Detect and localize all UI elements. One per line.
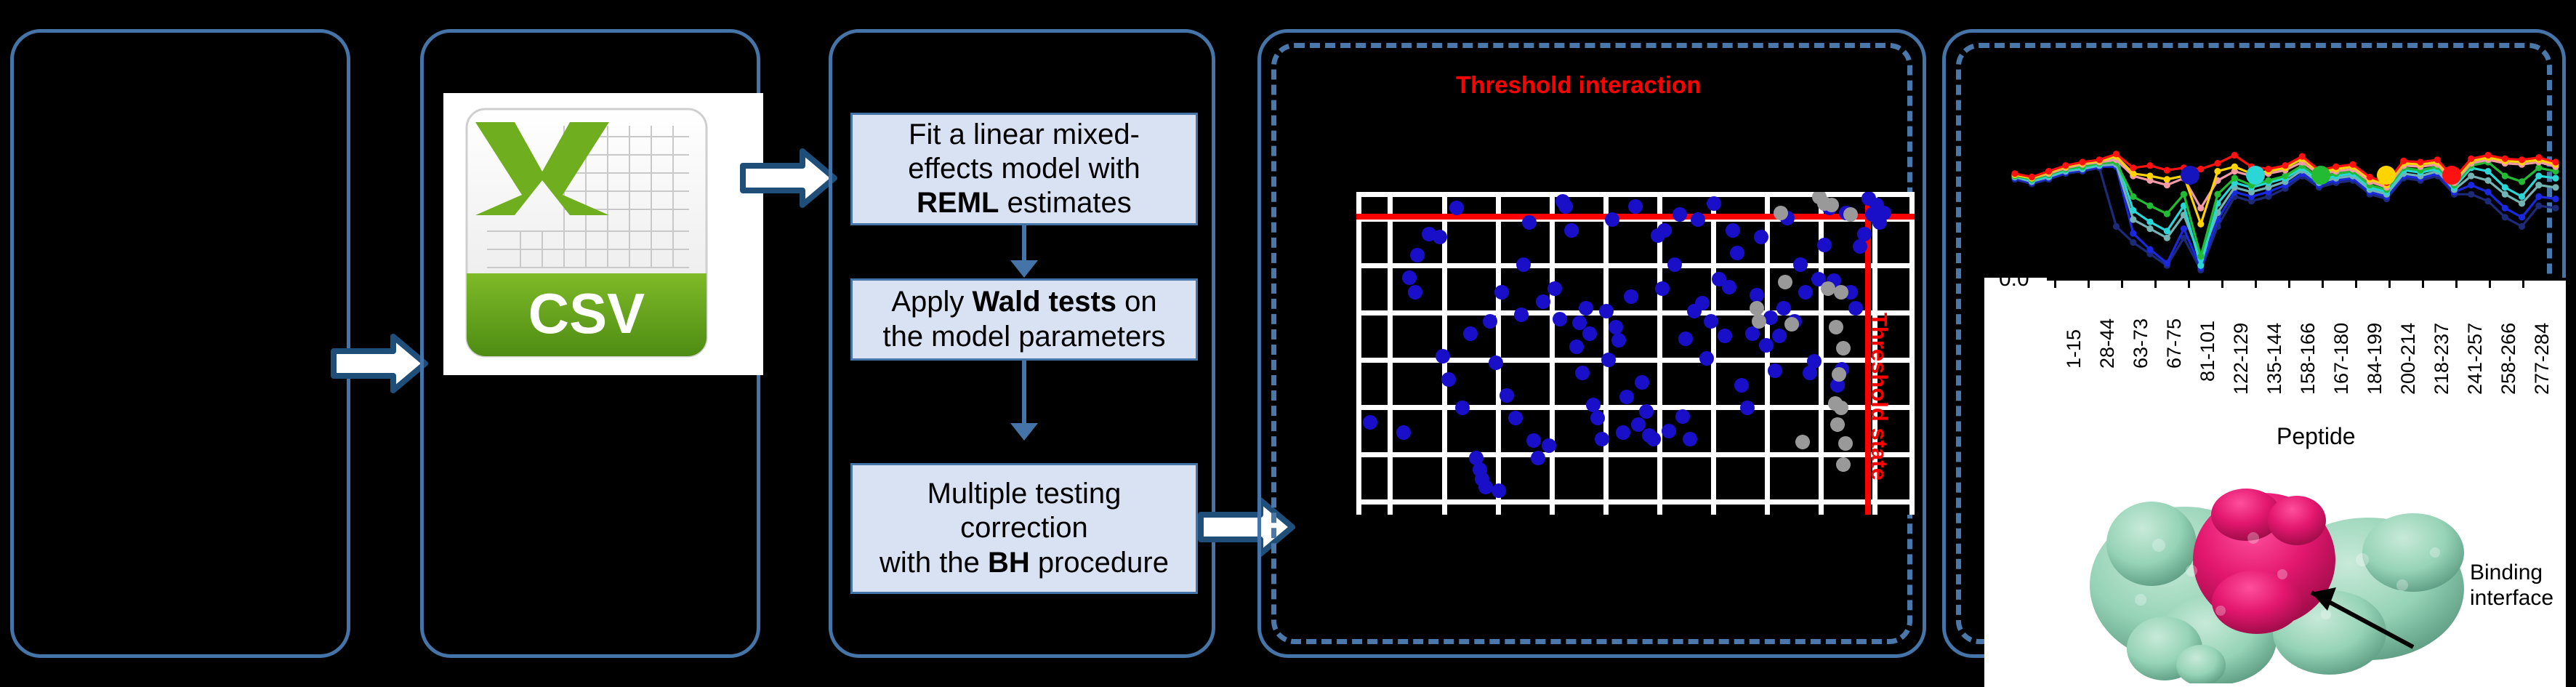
scatter-point: [1635, 375, 1649, 390]
peptide-series-marker: [2519, 223, 2525, 230]
scatter-point: [1363, 415, 1377, 430]
peptide-label-3: 67-75: [2163, 318, 2186, 369]
peptide-series-marker: [2502, 172, 2508, 179]
figure-canvas: CSV Fit a linear mixed- effects model wi…: [0, 0, 2576, 687]
peptide-series-marker: [2417, 158, 2423, 165]
scatter-point: [1707, 196, 1721, 211]
scatter-point: [1848, 301, 1863, 316]
scatter-point: [1449, 201, 1464, 215]
peptide-label-9: 184-199: [2364, 323, 2386, 395]
scatter-point: [1836, 457, 1851, 472]
peptide-series-marker: [2146, 202, 2153, 209]
scatter-point: [1821, 281, 1835, 296]
peptide-series-marker: [2552, 175, 2559, 182]
peptide-series-marker: [2045, 168, 2052, 174]
arrow-csv-to-analysis: [740, 145, 838, 211]
scatter-point: [1784, 317, 1799, 332]
peptide-series-marker: [2552, 196, 2559, 202]
peptide-label-10: 200-214: [2397, 323, 2420, 395]
peptide-series-marker: [2535, 154, 2542, 161]
scatter-point: [1599, 304, 1614, 318]
scatter-point: [1631, 417, 1646, 432]
scatter-point: [1478, 480, 1493, 494]
peptide-series-marker: [2197, 253, 2204, 260]
peptide-series-marker: [2502, 184, 2508, 190]
bh-line2: correction: [960, 512, 1088, 544]
scatter-point: [1582, 326, 1597, 341]
fit-model-step[interactable]: Fit a linear mixed- effects model with R…: [850, 113, 1198, 225]
peptide-series-marker: [2299, 153, 2306, 160]
peptide-series-marker: [2214, 160, 2221, 166]
scatter-point: [1699, 351, 1714, 366]
scatter-point: [1619, 390, 1634, 404]
peptide-series-marker: [2197, 221, 2204, 228]
scatter-point: [1798, 285, 1813, 300]
scatter-point: [1657, 223, 1672, 238]
scatter-point: [1616, 425, 1630, 440]
peptide-label-0: 1-15: [2063, 329, 2085, 369]
peptide-series-marker: [2468, 182, 2474, 188]
peptide-series-marker: [2502, 214, 2508, 220]
peptide-series-marker: [2079, 158, 2085, 165]
scatter-point: [1726, 223, 1740, 238]
scatter-point: [1410, 248, 1425, 262]
peptide-label-13: 258-266: [2497, 323, 2520, 395]
scatter-point: [1564, 223, 1579, 238]
peptide-label-5: 122-129: [2230, 323, 2253, 395]
peptide-series-marker: [2146, 225, 2153, 232]
scatter-plot: [1356, 192, 1915, 515]
scatter-point: [1829, 320, 1843, 334]
peptide-series-marker: [2146, 246, 2153, 253]
scatter-point: [1793, 257, 1808, 272]
peptide-series-marker: [2130, 230, 2136, 236]
peptide-series-marker: [2164, 228, 2170, 234]
peptide-series-marker: [2535, 164, 2542, 171]
connector-1: [1022, 225, 1026, 263]
wald-line1-pre: Apply: [891, 286, 972, 318]
peptide-series-marker: [2130, 170, 2136, 177]
peptide-series-marker: [2130, 239, 2136, 246]
scatter-point: [1754, 230, 1768, 244]
peptide-series-marker: [2181, 191, 2187, 198]
peptide-label-2: 63-73: [2130, 318, 2152, 369]
scatter-point: [1483, 314, 1497, 329]
threshold-state-label: Threshold state: [1866, 313, 1892, 481]
peptide-series-marker: [2130, 193, 2136, 200]
peptide-series-marker: [2519, 193, 2525, 200]
fit-model-line2: effects model with: [908, 153, 1140, 185]
peptide-series-marker: [2468, 191, 2474, 198]
scatter-point: [1776, 301, 1791, 316]
scatter-point: [1832, 367, 1846, 382]
scatter-point: [1441, 372, 1456, 387]
peptide-series-marker: [2164, 182, 2170, 188]
peptide-series-marker: [2519, 214, 2525, 220]
scatter-point: [1772, 329, 1787, 343]
scatter-point: [1463, 326, 1478, 341]
csv-file-icon: CSV: [443, 93, 763, 375]
bh-bold: BH: [988, 547, 1030, 579]
peptide-series-marker: [2265, 166, 2271, 172]
x-axis-line: [2047, 278, 2566, 281]
peptide-series-marker: [2164, 211, 2170, 217]
scatter-point: [1836, 341, 1851, 355]
wald-line2: the model parameters: [882, 321, 1165, 353]
scatter-point: [1526, 433, 1541, 448]
peptide-series-marker: [2214, 168, 2221, 174]
scatter-point: [1611, 333, 1626, 347]
peptide-series-marker: [2519, 200, 2525, 206]
peptide-series-marker: [2484, 168, 2491, 174]
peptide-series-marker: [2146, 162, 2153, 169]
peptide-label-1: 28-44: [2096, 318, 2119, 369]
peptide-axis-title: Peptide: [2277, 423, 2356, 450]
scatter-point: [1734, 378, 1749, 393]
peptide-chart: [2005, 149, 2566, 280]
scatter-point: [1857, 227, 1872, 241]
scatter-point: [1750, 301, 1764, 316]
wald-test-step[interactable]: Apply Wald tests on the model parameters: [850, 278, 1198, 361]
scatter-point: [1752, 314, 1766, 329]
peptide-series-marker: [2282, 172, 2288, 179]
scatter-point: [1553, 312, 1567, 326]
scatter-point: [1569, 340, 1584, 354]
scatter-point: [1667, 257, 1682, 272]
bh-line1: Multiple testing: [927, 478, 1122, 510]
fit-model-bold: REML: [917, 187, 999, 219]
peptide-series-marker: [2282, 162, 2288, 169]
scatter-point: [1489, 355, 1503, 370]
scatter-point: [1590, 411, 1605, 425]
peptide-series-marker: [2146, 172, 2153, 179]
peptide-series-marker: [2535, 202, 2542, 209]
peptide-series-marker: [2164, 176, 2170, 182]
peptide-series-marker: [2552, 158, 2559, 165]
scatter-point: [1853, 239, 1867, 254]
scatter-point: [1536, 294, 1550, 309]
scatter-point: [1675, 409, 1690, 424]
peptide-label-12: 241-257: [2464, 323, 2487, 395]
bh-line3-pre: with the: [880, 547, 988, 579]
scatter-point: [1730, 246, 1744, 260]
scatter-point: [1807, 354, 1822, 369]
scatter-point: [1655, 281, 1670, 296]
peptide-series-marker: [2349, 161, 2356, 168]
scatter-point: [1678, 332, 1693, 346]
peptide-series-marker: [2502, 205, 2508, 212]
scatter-point: [1547, 281, 1562, 296]
scatter-point: [1768, 363, 1782, 378]
bh-line3-post: procedure: [1030, 547, 1169, 579]
peptide-series-marker: [2484, 189, 2491, 196]
scatter-point: [1673, 207, 1687, 222]
scatter-point: [1575, 366, 1590, 380]
peptide-label-4: 81-101: [2197, 321, 2219, 382]
csv-icon-glyph: CSV: [443, 93, 763, 375]
scatter-point: [1740, 401, 1755, 415]
connector-2: [1022, 361, 1026, 426]
peptide-series-marker: [2535, 172, 2542, 179]
scatter-point: [1683, 432, 1697, 446]
peptide-series-marker: [2181, 225, 2187, 232]
protein-structure-image: [2072, 458, 2479, 683]
peptide-series-marker: [2062, 162, 2069, 169]
scatter-point: [1830, 417, 1845, 432]
peptide-series-marker: [2130, 164, 2136, 171]
peptide-series-marker: [2484, 152, 2491, 158]
binding-interface-line1: Binding: [2470, 560, 2553, 585]
peptide-series-marker: [2367, 174, 2373, 180]
scatter-point: [1522, 215, 1537, 230]
scatter-point: [1492, 483, 1506, 498]
scatter-point: [1718, 329, 1732, 343]
scatter-point: [1691, 212, 1705, 227]
bh-correction-step[interactable]: Multiple testing correction with the BH …: [850, 463, 1198, 594]
wald-line1-post: on: [1116, 286, 1157, 318]
peptide-series-marker: [2029, 174, 2035, 180]
peptide-series-marker: [2519, 156, 2525, 163]
binding-interface-line2: interface: [2470, 585, 2553, 611]
peptide-label-7: 158-166: [2297, 323, 2319, 395]
peptide-series-marker: [2502, 191, 2508, 198]
peptide-series-marker: [2231, 175, 2238, 182]
scatter-point: [1558, 199, 1573, 214]
legend-dot-4: [2377, 166, 2396, 185]
scatter-point: [1843, 207, 1858, 222]
fit-model-line3-post: estimates: [999, 187, 1132, 219]
scatter-point: [1508, 411, 1523, 425]
connector-1-arrowhead: [1010, 260, 1038, 278]
results-image-card: 0.0 1-15 28-44 63-73 67-75 81-101 122-12…: [1984, 278, 2566, 687]
scatter-point: [1877, 206, 1891, 220]
legend-dot-2: [2246, 166, 2265, 185]
peptide-label-14: 277-284: [2531, 323, 2553, 395]
peptide-chart-lines: [2005, 149, 2566, 280]
legend-dot-3: [2311, 166, 2330, 185]
scatter-point: [1838, 436, 1853, 451]
peptide-series-marker: [2113, 223, 2120, 230]
peptide-series-marker: [2146, 219, 2153, 225]
scatter-point: [1646, 432, 1661, 446]
scatter-point: [1531, 451, 1545, 465]
peptide-series-marker: [2519, 178, 2525, 185]
scatter-point: [1759, 338, 1774, 353]
scatter-point: [1704, 314, 1718, 329]
peptide-series-marker: [2164, 235, 2170, 241]
y-tick-label: 0.0: [1999, 267, 2029, 292]
scatter-point: [1433, 230, 1447, 244]
scatter-point: [1624, 289, 1638, 304]
peptide-series-marker: [2214, 191, 2221, 198]
peptide-series-marker: [2434, 156, 2441, 163]
scatter-point: [1595, 432, 1609, 446]
peptide-series-marker: [2113, 150, 2120, 157]
peptide-label-11: 218-237: [2431, 323, 2453, 395]
scatter-point: [1774, 206, 1788, 220]
legend-dot-1: [2181, 166, 2199, 185]
scatter-point: [1722, 280, 1736, 294]
scatter-point: [1500, 388, 1514, 403]
peptide-series-marker: [2231, 152, 2238, 158]
peptide-series-marker: [2164, 260, 2170, 266]
scatter-point: [1436, 349, 1450, 363]
scatter-point: [1817, 238, 1832, 252]
scatter-point: [1834, 401, 1848, 415]
legend-dot-5: [2442, 166, 2461, 185]
scatter-point: [1795, 435, 1810, 449]
scatter-point: [1605, 212, 1619, 227]
peptide-series-marker: [2468, 172, 2474, 179]
peptide-series-marker: [2197, 262, 2204, 269]
protein-surface: [2072, 458, 2479, 683]
peptide-series-marker: [2502, 156, 2508, 162]
peptide-series-marker: [2096, 156, 2103, 163]
scatter-point: [1586, 398, 1601, 412]
scatter-point: [1402, 270, 1417, 285]
scatter-point: [1834, 285, 1848, 300]
peptide-label-8: 167-180: [2330, 323, 2353, 395]
panel-input: [10, 29, 350, 658]
peptide-series-marker: [2552, 184, 2559, 190]
peptide-series-marker: [2130, 216, 2136, 222]
peptide-series-marker: [2265, 177, 2271, 184]
fit-model-line1: Fit a linear mixed-: [909, 118, 1140, 150]
peptide-series-marker: [2400, 158, 2407, 164]
peptide-series-marker: [2535, 182, 2542, 188]
scatter-point: [1745, 326, 1760, 341]
binding-interface-label: Binding interface: [2470, 560, 2553, 611]
connector-2-arrowhead: [1010, 423, 1038, 441]
peptide-series-marker: [2535, 193, 2542, 200]
scatter-point: [1695, 296, 1710, 310]
scatter-point: [1824, 198, 1839, 212]
peptide-series-marker: [2484, 177, 2491, 184]
csv-label: CSV: [528, 281, 645, 345]
peptide-series-marker: [2231, 164, 2238, 170]
scatter-point: [1396, 425, 1411, 440]
scatter-points-layer: [1356, 192, 1915, 515]
peptide-series-marker: [2468, 156, 2474, 162]
peptide-series-marker: [2552, 205, 2559, 212]
scatter-point: [1579, 301, 1593, 316]
scatter-point: [1514, 308, 1529, 322]
peptide-series-marker: [2333, 164, 2339, 170]
scatter-point: [1494, 285, 1509, 300]
scatter-point: [1778, 275, 1792, 289]
peptide-series-marker: [2011, 170, 2018, 177]
scatter-point: [1516, 257, 1531, 272]
peptide-series-marker: [2484, 198, 2491, 204]
scatter-point: [1601, 353, 1616, 367]
arrow-input-to-csv: [331, 331, 429, 396]
peptide-series-marker: [2197, 205, 2204, 212]
scatter-point: [1542, 438, 1556, 453]
scatter-point: [1639, 404, 1654, 419]
scatter-point: [1662, 424, 1676, 438]
peptide-label-6: 135-144: [2263, 323, 2286, 395]
peptide-series-marker: [2130, 207, 2136, 214]
scatter-title: Threshold interaction: [1456, 71, 1701, 99]
scatter-point: [1455, 401, 1470, 415]
scatter-point: [1408, 285, 1422, 300]
wald-bold: Wald tests: [973, 286, 1117, 318]
scatter-point: [1628, 199, 1643, 214]
peptide-series-marker: [2164, 167, 2170, 174]
